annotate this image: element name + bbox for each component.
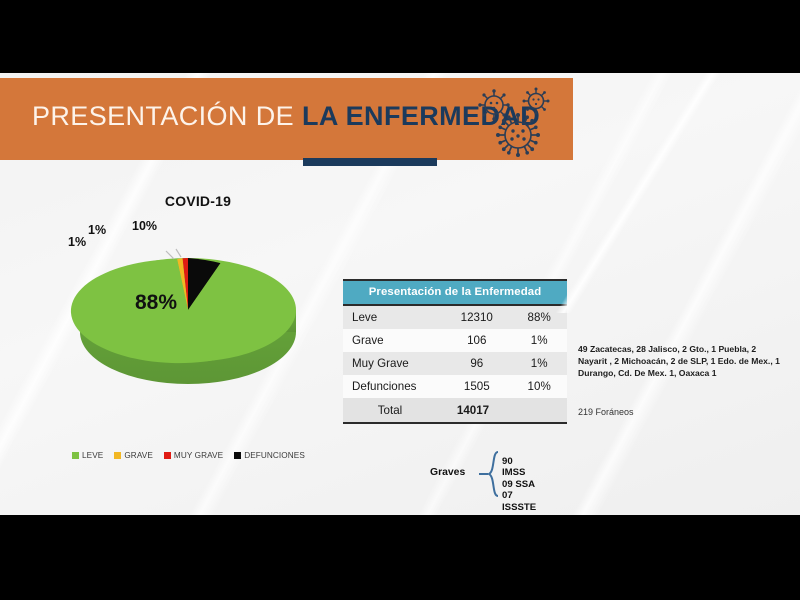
title-underline [303,158,437,166]
legend-item-leve: LEVE [72,451,103,460]
cell-label: Defunciones [343,380,442,393]
legend-item-grave: GRAVE [114,451,153,460]
cell-percent: 88% [511,311,567,324]
state-distribution-note: 49 Zacatecas, 28 Jalisco, 2 Gto., 1 Pueb… [578,343,786,380]
page-title: PRESENTACIÓN DE LA ENFERMEDAD [32,101,540,132]
table-row: Muy Grave 96 1% [343,352,567,375]
breakdown-item: 09 SSA [502,479,536,490]
cell-count: 106 [442,334,511,347]
cell-label: Grave [343,334,442,347]
table-row: Leve 12310 88% [343,306,567,329]
cell-count-total: 14017 [437,404,509,417]
legend-swatch-defunciones [234,452,241,459]
presentation-slide: PRESENTACIÓN DE LA ENFERMEDAD [0,73,800,515]
legend-item-defunciones: DEFUNCIONES [234,451,305,460]
table-row: Grave 106 1% [343,329,567,352]
pie-chart: 1% 1% 10% [70,218,320,418]
legend-item-muy-grave: MUY GRAVE [164,451,223,460]
legend-label-muy-grave: MUY GRAVE [174,451,223,460]
coronavirus-icon [468,86,572,158]
cell-percent: 10% [511,380,567,393]
cell-label: Muy Grave [343,357,442,370]
breakdown-items: 90 IMSS 09 SSA 07 ISSSTE [502,456,536,513]
table-header: Presentación de la Enfermedad [343,279,567,306]
page-title-light: PRESENTACIÓN DE [32,101,302,131]
breakdown-item: 90 IMSS [502,456,536,479]
curly-brace-icon [487,451,501,497]
table-row-total: Total 14017 [343,398,567,424]
header-band: PRESENTACIÓN DE LA ENFERMEDAD [0,78,573,160]
pie-callout-muy-grave: 1% [68,235,86,249]
legend-swatch-grave [114,452,121,459]
foraneos-count: 219 Foráneos [578,407,634,417]
legend-label-defunciones: DEFUNCIONES [244,451,305,460]
cell-count: 96 [442,357,511,370]
cell-count: 1505 [442,380,511,393]
breakdown-label: Graves [430,467,465,478]
cell-label-total: Total [343,404,437,417]
cell-count: 12310 [442,311,511,324]
chart-title: COVID-19 [108,193,288,209]
pie-label-leve: 88% [135,291,177,315]
cell-percent: 1% [511,357,567,370]
table-row: Defunciones 1505 10% [343,375,567,398]
legend-swatch-muy-grave [164,452,171,459]
page-title-bold: LA ENFERMEDAD [302,101,540,131]
legend-swatch-leve [72,452,79,459]
breakdown-item: 07 ISSSTE [502,490,536,513]
disease-presentation-table: Presentación de la Enfermedad Leve 12310… [343,279,567,424]
legend-label-leve: LEVE [82,451,103,460]
legend-label-grave: GRAVE [124,451,153,460]
cell-label: Leve [343,311,442,324]
slide-viewer: PRESENTACIÓN DE LA ENFERMEDAD [0,0,800,600]
cell-percent: 1% [511,334,567,347]
pie-callout-defunciones: 10% [132,219,157,233]
chart-legend: LEVE GRAVE MUY GRAVE DEFUNCIONES [72,451,322,460]
pie-callout-grave: 1% [88,223,106,237]
